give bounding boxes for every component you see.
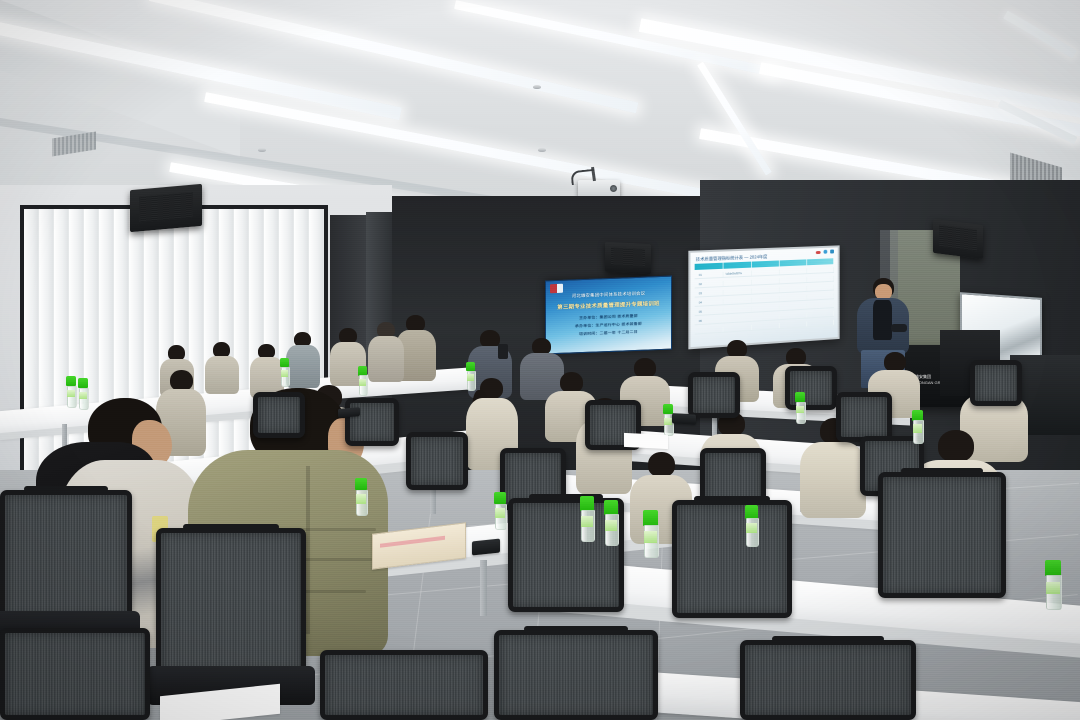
attendee — [205, 342, 239, 394]
mesh-office-chair[interactable] — [836, 392, 892, 442]
header-cell — [807, 258, 834, 265]
mesh-office-chair[interactable] — [0, 628, 150, 720]
water-bottle[interactable] — [745, 505, 758, 545]
water-bottle[interactable] — [643, 510, 658, 556]
smoke-detector-icon — [538, 148, 546, 152]
mesh-office-chair[interactable] — [320, 650, 488, 720]
wall-speaker — [130, 184, 202, 232]
cell-text: 01 — [699, 274, 702, 277]
mesh-office-chair[interactable] — [970, 360, 1022, 406]
cloud-sync-icon — [816, 250, 821, 253]
mesh-office-chair[interactable] — [406, 432, 468, 490]
header-cell — [695, 263, 724, 270]
water-bottle[interactable] — [912, 410, 923, 442]
remote-clicker — [891, 324, 907, 332]
header-cell — [752, 260, 780, 267]
water-bottle[interactable] — [494, 492, 506, 528]
paper-sheet[interactable] — [624, 433, 668, 449]
banner-line-5: 培训时间：二届一年 十二月二日 — [546, 329, 671, 339]
cell-text: 04 — [699, 301, 702, 304]
water-bottle[interactable] — [795, 392, 805, 422]
share-icon — [830, 249, 834, 253]
water-bottle[interactable] — [78, 378, 88, 408]
org-logo-icon — [550, 284, 563, 293]
water-bottle[interactable] — [466, 362, 475, 389]
presenter-shirt — [873, 300, 892, 340]
smoke-detector-icon — [258, 148, 266, 152]
mesh-office-chair[interactable] — [785, 366, 837, 410]
banner-line-2: 第三期专业技术质量管理提升专题培训班 — [546, 299, 671, 312]
cell-text: 03 — [699, 292, 702, 295]
water-bottle[interactable] — [66, 376, 76, 406]
water-bottle[interactable] — [604, 500, 618, 544]
projection-screen: 技术质量管理指标统计表 — 2024年度 01 \u5de5\u827a 02 … — [688, 245, 839, 349]
water-bottle[interactable] — [280, 358, 289, 385]
mesh-office-chair[interactable] — [0, 490, 132, 622]
wall-speaker — [605, 242, 651, 274]
attendee — [286, 332, 320, 388]
person-icon — [823, 250, 827, 254]
smartphone[interactable] — [672, 413, 696, 424]
spreadsheet-toolbar — [816, 249, 834, 254]
mesh-office-chair[interactable] — [878, 472, 1006, 598]
conference-room-photo: 河北雄安集团中间体系技术培训会议 第三期专业技术质量管理提升专题培训班 主办单位… — [0, 0, 1080, 720]
table-leg — [480, 560, 487, 616]
mesh-office-chair[interactable] — [253, 392, 305, 438]
smartphone[interactable] — [472, 539, 500, 556]
cell-text: 05 — [699, 311, 702, 314]
wall-speaker — [933, 219, 983, 259]
water-bottle[interactable] — [358, 366, 367, 394]
smartphone — [498, 344, 508, 359]
projector-lens-icon — [610, 185, 617, 192]
mesh-office-chair[interactable] — [672, 500, 792, 618]
mesh-office-chair[interactable] — [494, 630, 658, 720]
attendee — [368, 322, 404, 382]
header-cell — [724, 262, 752, 269]
water-bottle[interactable] — [355, 478, 367, 514]
mesh-office-chair[interactable] — [688, 372, 740, 418]
water-bottle[interactable] — [580, 496, 594, 540]
mesh-office-chair[interactable] — [156, 528, 306, 678]
projector-arm — [570, 169, 595, 185]
smartphone[interactable] — [338, 407, 360, 418]
cell-text: 06 — [699, 320, 702, 323]
mesh-office-chair[interactable] — [345, 398, 399, 446]
mesh-office-chair[interactable] — [740, 640, 916, 720]
smoke-detector-icon — [533, 85, 541, 89]
header-cell — [780, 259, 807, 266]
water-bottle[interactable] — [1045, 560, 1061, 608]
cell-text: 02 — [699, 283, 702, 286]
presentation-banner: 河北雄安集团中间体系技术培训会议 第三期专业技术质量管理提升专题培训班 主办单位… — [545, 276, 672, 355]
